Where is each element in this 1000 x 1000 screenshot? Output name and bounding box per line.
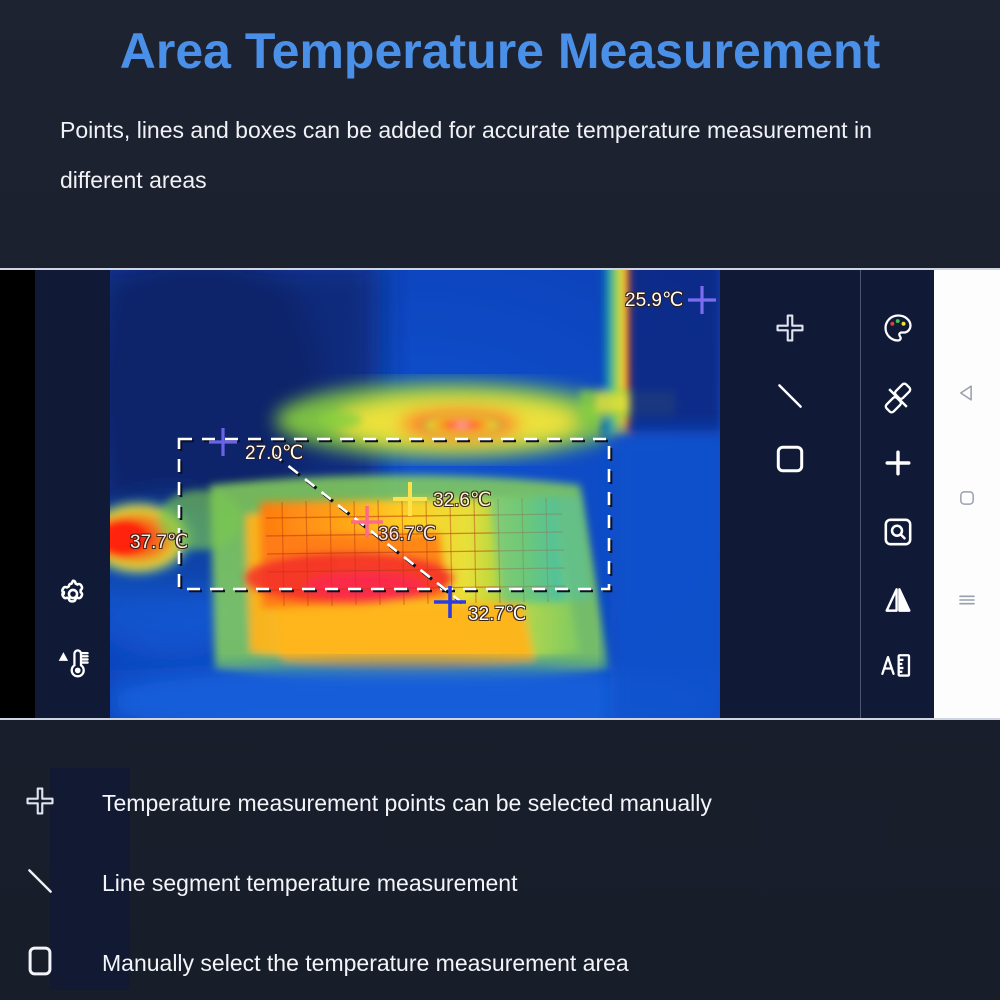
right-tool-panel xyxy=(861,270,934,720)
home-square-icon xyxy=(957,488,977,513)
legend-box-icon-wrap xyxy=(0,928,80,998)
magnifier-box-icon xyxy=(881,515,915,554)
temp-label-37-7: 37.7℃ xyxy=(130,531,188,554)
page-subtitle: Points, lines and boxes can be added for… xyxy=(60,105,940,205)
temp-label-32-7: 32.7℃ xyxy=(468,603,526,626)
color-palette-icon xyxy=(881,311,915,350)
recents-menu-icon xyxy=(955,588,979,617)
device-screen: 25.9℃ 27.0℃ 37.7℃ 32.6℃ 36.7℃ 32.7℃ xyxy=(0,268,1000,720)
temp-label-32-6: 32.6℃ xyxy=(433,489,491,512)
sidebar-item-settings[interactable] xyxy=(35,576,110,616)
measurement-tool-panel xyxy=(720,270,861,720)
crosshair-point-icon xyxy=(23,784,57,823)
refresh-icon xyxy=(55,713,91,721)
temp-label-25-9: 25.9℃ xyxy=(625,289,683,312)
nav-back-button[interactable] xyxy=(934,375,1000,415)
right-item-palette[interactable] xyxy=(861,310,934,350)
legend-text-line: Line segment temperature measurement xyxy=(102,870,518,897)
right-item-units[interactable] xyxy=(861,647,934,687)
temp-label-36-7: 36.7℃ xyxy=(378,523,436,546)
right-item-fusion[interactable] xyxy=(861,380,934,420)
right-item-zoom[interactable] xyxy=(861,514,934,554)
legend-row-line: Line segment temperature measurement xyxy=(0,848,950,918)
page-title: Area Temperature Measurement xyxy=(0,22,1000,80)
thermal-image-canvas xyxy=(110,270,720,720)
legend-row-area: Manually select the temperature measurem… xyxy=(0,928,950,998)
square-box-icon xyxy=(772,441,808,482)
square-box-icon xyxy=(22,943,58,984)
thermal-image[interactable]: 25.9℃ 27.0℃ 37.7℃ 32.6℃ 36.7℃ 32.7℃ xyxy=(110,270,720,720)
page-root: Area Temperature Measurement Points, lin… xyxy=(0,0,1000,1000)
temp-label-27-0: 27.0℃ xyxy=(245,442,303,465)
legend-crosshair-icon-wrap xyxy=(0,768,80,838)
left-sidebar xyxy=(35,270,111,720)
nav-home-button[interactable] xyxy=(934,480,1000,520)
mirror-flip-icon xyxy=(881,583,915,622)
image-fusion-icon xyxy=(880,380,916,421)
legend-text-point: Temperature measurement points can be se… xyxy=(102,790,712,817)
right-item-add[interactable] xyxy=(861,445,934,485)
android-navigation-bar xyxy=(934,270,1000,720)
plus-icon xyxy=(881,446,915,485)
legend-row-point: Temperature measurement points can be se… xyxy=(0,768,950,838)
diagonal-line-icon xyxy=(773,379,807,418)
screen-bezel-left xyxy=(0,270,35,720)
settings-gear-icon xyxy=(55,576,91,617)
sidebar-item-refresh[interactable] xyxy=(35,713,110,720)
tool-line-measurement[interactable] xyxy=(720,378,860,418)
sidebar-item-temperature-alarm[interactable] xyxy=(35,644,110,686)
right-item-mirror[interactable] xyxy=(861,582,934,622)
back-triangle-icon xyxy=(956,382,978,409)
crosshair-point-icon xyxy=(773,311,807,350)
nav-recents-button[interactable] xyxy=(934,582,1000,622)
legend-line-icon-wrap xyxy=(0,848,80,918)
tool-point-measurement[interactable] xyxy=(720,310,860,350)
text-ruler-icon xyxy=(879,648,917,687)
temperature-alarm-icon xyxy=(53,643,93,688)
legend-text-area: Manually select the temperature measurem… xyxy=(102,950,629,977)
diagonal-line-icon xyxy=(23,864,57,903)
tool-area-measurement[interactable] xyxy=(720,441,860,481)
